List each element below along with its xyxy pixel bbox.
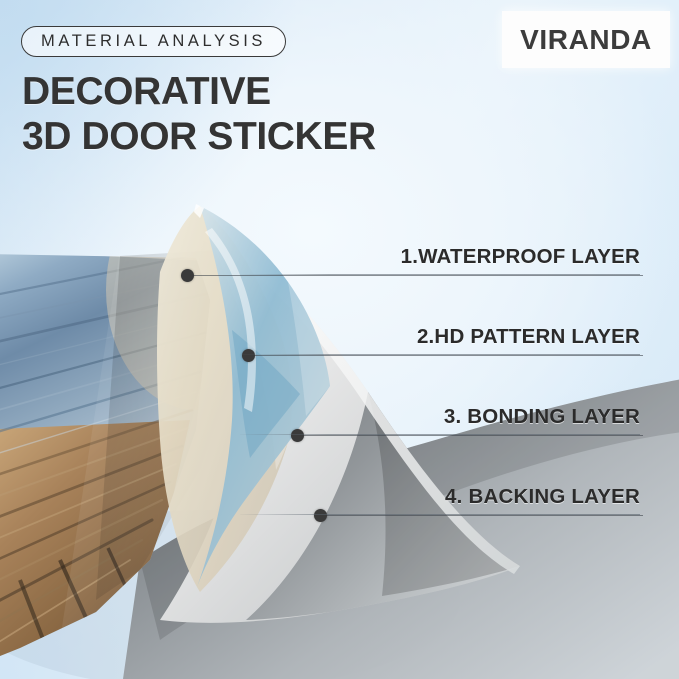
callout-waterproof-layer: 1.WATERPROOF LAYER <box>240 245 640 275</box>
poster-canvas: MATERIAL ANALYSIS DECORATIVE 3D DOOR STI… <box>0 0 679 679</box>
headline-line-1: DECORATIVE <box>22 70 271 113</box>
badge-material-analysis: MATERIAL ANALYSIS <box>21 26 286 57</box>
page-title: DECORATIVE 3D DOOR STICKER <box>22 69 492 159</box>
brand-logo-text: VIRANDA <box>520 24 652 56</box>
callout-rule-2 <box>240 354 640 355</box>
callout-label-1: 1.WATERPROOF LAYER <box>240 245 640 269</box>
leader-line-1 <box>193 275 643 276</box>
leader-line-2 <box>254 355 643 356</box>
leader-line-3 <box>303 435 643 436</box>
callout-backing-layer: 4. BACKING LAYER <box>240 485 640 515</box>
callout-hd-pattern-layer: 2.HD PATTERN LAYER <box>240 325 640 355</box>
callout-rule-3 <box>240 434 640 435</box>
badge-label: MATERIAL ANALYSIS <box>41 32 266 51</box>
callout-label-3: 3. BONDING LAYER <box>240 405 640 429</box>
callout-label-4: 4. BACKING LAYER <box>240 485 640 509</box>
callout-label-2: 2.HD PATTERN LAYER <box>240 325 640 349</box>
callout-rule-4 <box>240 514 640 515</box>
leader-line-4 <box>326 515 643 516</box>
callout-bonding-layer: 3. BONDING LAYER <box>240 405 640 435</box>
brand-logo: VIRANDA <box>502 11 670 68</box>
marker-dot-1 <box>181 269 194 282</box>
headline-line-2: 3D DOOR STICKER <box>22 114 492 159</box>
callout-rule-1 <box>240 274 640 275</box>
